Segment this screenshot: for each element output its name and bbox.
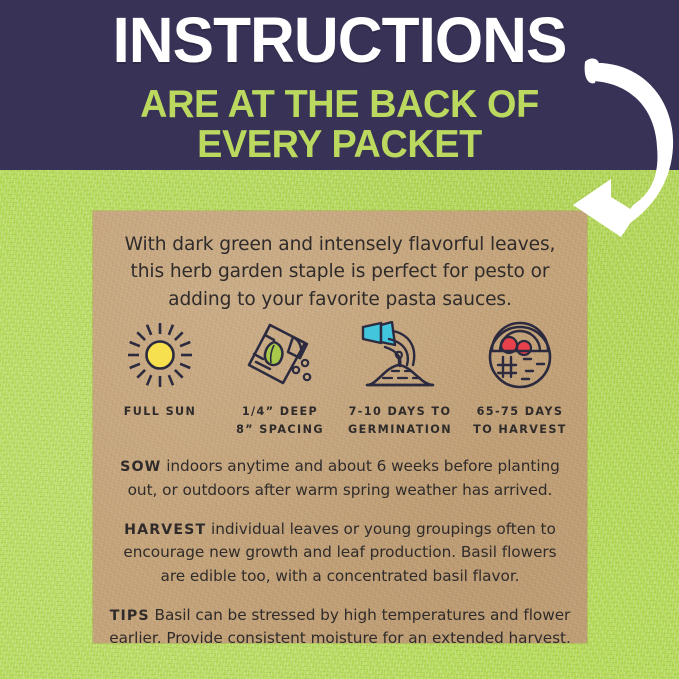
stat-harvest: 65-75 DAYS TO HARVEST	[461, 319, 579, 439]
watering-can-icon	[359, 319, 441, 391]
paragraph-keyword: HARVEST	[124, 522, 206, 538]
stat-full-sun: FULL SUN	[101, 319, 219, 421]
intro-paragraph: With dark green and intensely flavorful …	[113, 231, 567, 313]
stat-label: 1/4” DEEP 8” SPACING	[236, 403, 324, 439]
stat-label: 7-10 DAYS TO GERMINATION	[348, 403, 452, 439]
stat-label: FULL SUN	[124, 403, 197, 421]
instruction-paragraphs: SOW indoors anytime and about 6 weeks be…	[109, 455, 571, 651]
header-subtitle-line-2: EVERY PACKET	[10, 125, 669, 165]
instructions-card: With dark green and intensely flavorful …	[93, 211, 587, 643]
header-subtitle: ARE AT THE BACK OF EVERY PACKET	[10, 85, 669, 165]
paragraph-text: indoors anytime and about 6 weeks before…	[128, 457, 560, 499]
paragraph-keyword: SOW	[120, 459, 161, 475]
header-subtitle-line-1: ARE AT THE BACK OF	[140, 83, 539, 126]
page-title: INSTRUCTIONS	[10, 8, 669, 73]
harvest-basket-icon	[484, 319, 556, 391]
paragraph-keyword: TIPS	[110, 608, 150, 624]
stat-label: 65-75 DAYS TO HARVEST	[473, 403, 567, 439]
sun-icon	[126, 319, 194, 391]
stat-germination: 7-10 DAYS TO GERMINATION	[341, 319, 459, 439]
stat-planting-depth: 1/4” DEEP 8” SPACING	[221, 319, 339, 439]
header-banner: INSTRUCTIONS ARE AT THE BACK OF EVERY PA…	[0, 0, 679, 170]
seed-packet-icon	[243, 319, 317, 391]
paragraph-text: Basil can be stressed by high temperatur…	[109, 606, 571, 648]
paragraph-harvest: HARVEST individual leaves or young group…	[109, 518, 571, 588]
paragraph-tips: TIPS Basil can be stressed by high tempe…	[109, 604, 571, 651]
seed-packet-instructions-graphic: INSTRUCTIONS ARE AT THE BACK OF EVERY PA…	[0, 0, 679, 679]
paragraph-sow: SOW indoors anytime and about 6 weeks be…	[109, 455, 571, 502]
icon-stat-row: FULL SUN	[101, 319, 579, 439]
